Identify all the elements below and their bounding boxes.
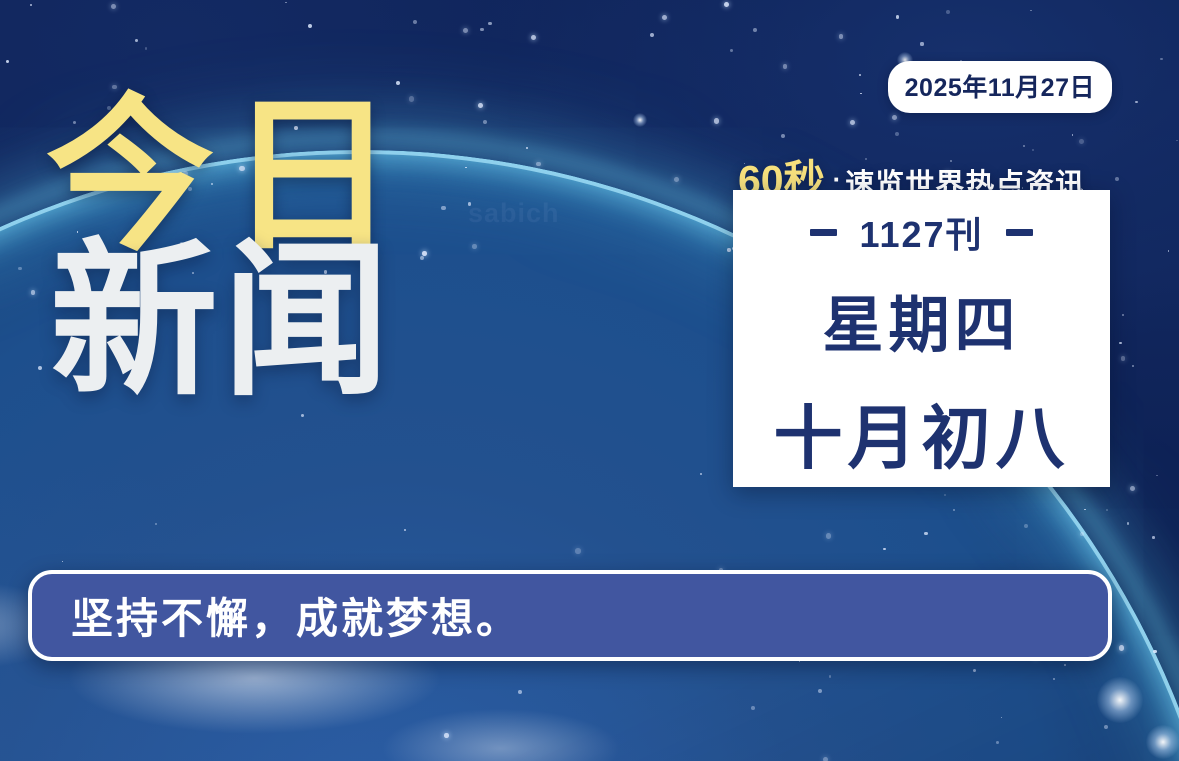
card-weekday: 星期四 xyxy=(822,275,1020,364)
news-poster: sabich 今日 新闻 2025年11月27日 60秒·速览世界热点资讯 11… xyxy=(0,0,1179,761)
dash-left-icon xyxy=(810,229,837,236)
dash-right-icon xyxy=(1006,229,1033,236)
date-info-card: 1127刊 星期四 十月初八 xyxy=(733,190,1110,487)
quote-banner: 坚持不懈，成就梦想。 xyxy=(28,570,1112,661)
card-lunar-date: 十月初八 xyxy=(774,382,1070,482)
page-title: 今日 新闻 xyxy=(46,96,410,403)
card-issue-row: 1127刊 xyxy=(810,206,1032,258)
date-badge: 2025年11月27日 xyxy=(888,61,1112,113)
title-line-xinwen: 新闻 xyxy=(50,241,410,402)
quote-text: 坚持不懈，成就梦想。 xyxy=(32,585,521,646)
card-issue-number: 1127刊 xyxy=(859,206,983,258)
